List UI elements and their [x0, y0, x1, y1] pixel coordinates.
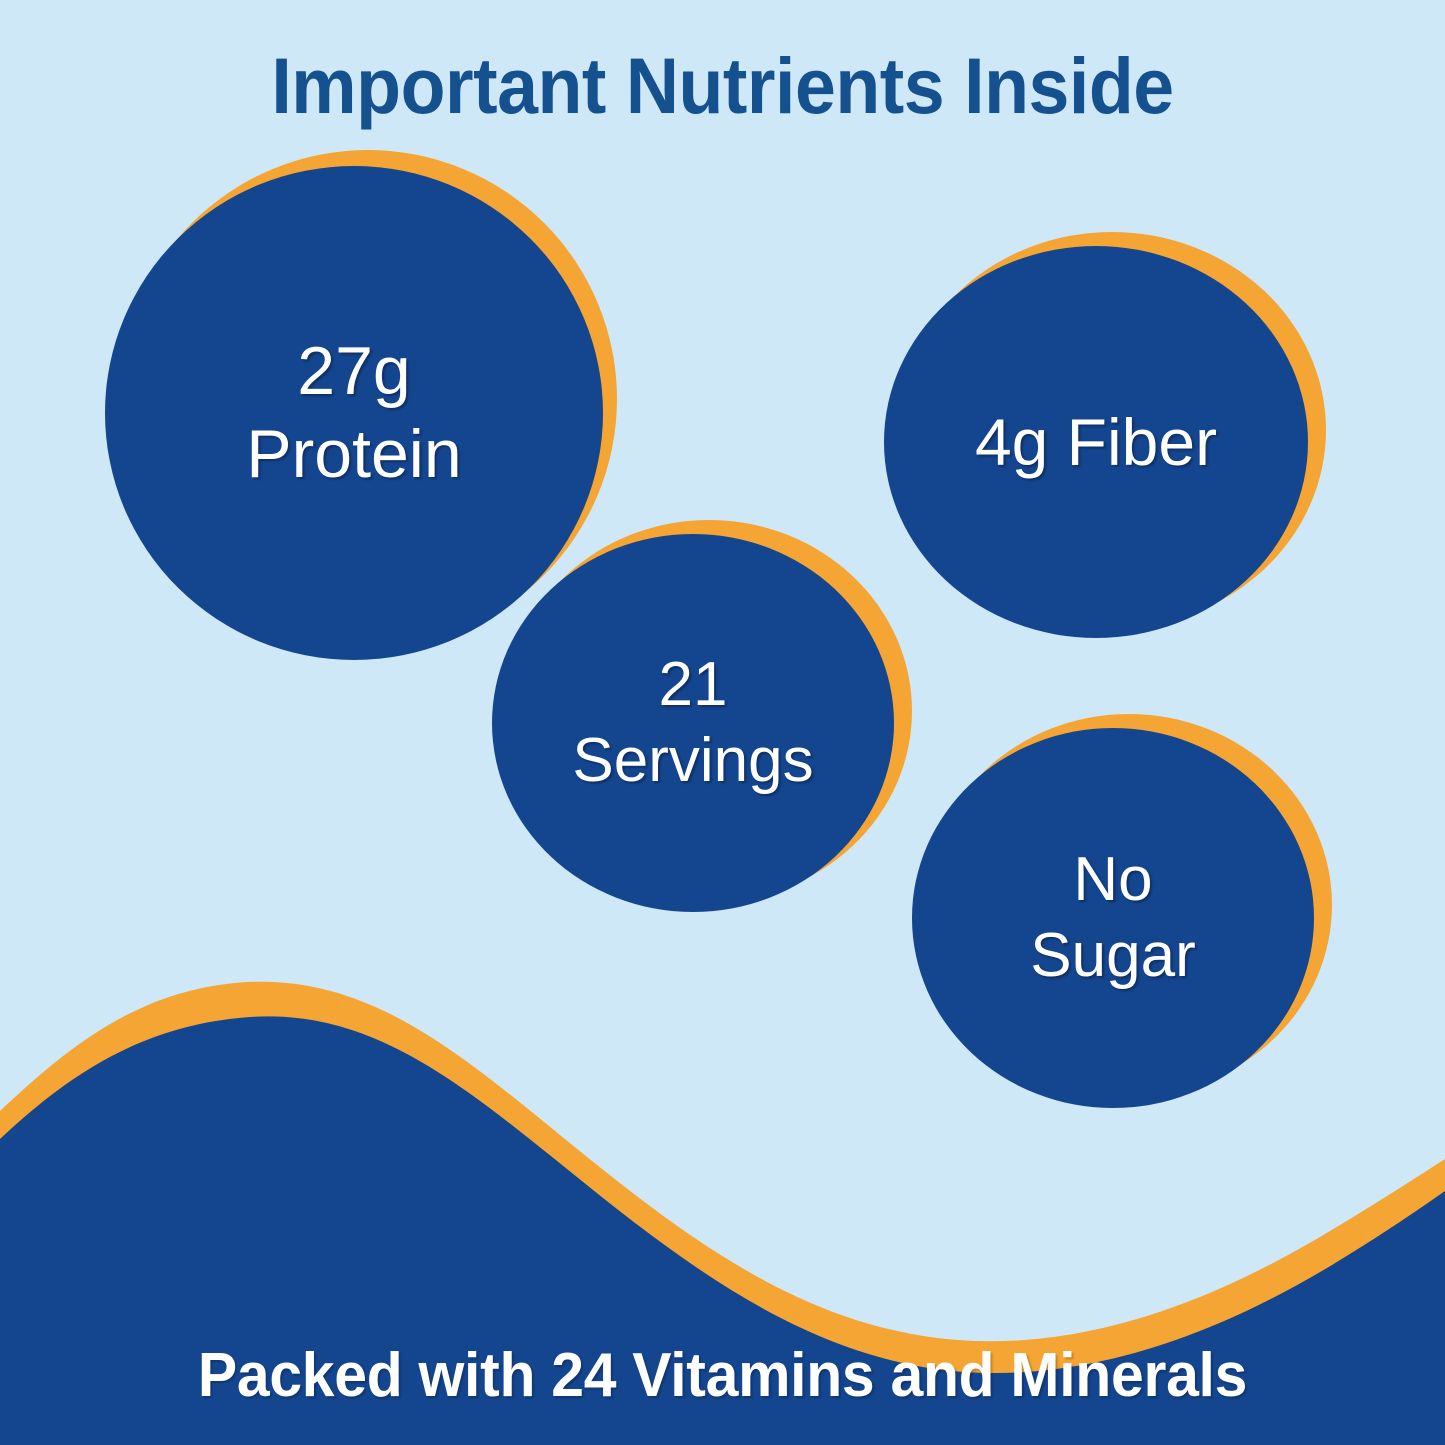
- nutrient-bubble-fiber: 4g Fiber: [884, 232, 1326, 638]
- bubble-label-protein: 27g Protein: [238, 330, 469, 496]
- bubble-navy-disc: 21 Servings: [492, 534, 894, 912]
- footer-text: Packed with 24 Vitamins and Minerals: [36, 1345, 1409, 1407]
- bubble-navy-disc: 4g Fiber: [884, 246, 1308, 638]
- page-title: Important Nutrients Inside: [51, 46, 1395, 125]
- nutrient-bubble-servings: 21 Servings: [492, 520, 912, 912]
- infographic-canvas: Important Nutrients Inside 27g Protein 4…: [0, 0, 1445, 1445]
- bubble-label-fiber: 4g Fiber: [967, 402, 1225, 483]
- bubble-label-servings: 21 Servings: [564, 647, 821, 798]
